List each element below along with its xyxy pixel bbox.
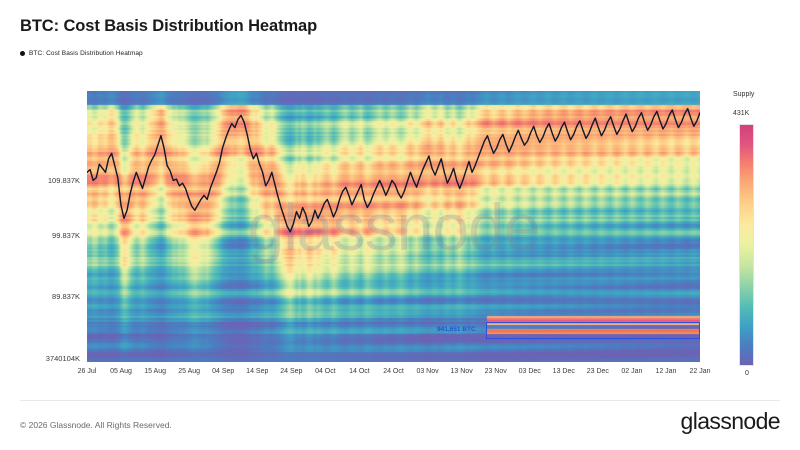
y-axis-tick: 99.837K [4, 231, 80, 240]
legend-label: BTC: Cost Basis Distribution Heatmap [29, 50, 143, 57]
cost-basis-cluster-label: 941,651 BTC [437, 326, 476, 333]
brand-wordmark: glassnode [681, 408, 780, 435]
copyright-text: © 2026 Glassnode. All Rights Reserved. [20, 420, 172, 430]
footer-divider [20, 400, 780, 401]
heatmap-plot-area[interactable]: glassnode [87, 91, 700, 362]
chart-legend: BTC: Cost Basis Distribution Heatmap [20, 50, 143, 57]
price-line-overlay [87, 91, 700, 362]
legend-marker-icon [20, 51, 25, 56]
x-axis-tick: 22 Jan [677, 368, 723, 375]
colorbar-title: Supply [733, 91, 754, 98]
page-title: BTC: Cost Basis Distribution Heatmap [20, 17, 317, 36]
y-axis-tick: 3740104K [4, 354, 80, 363]
colorbar-gradient [739, 124, 754, 366]
colorbar-min-label: 0 [745, 370, 749, 377]
y-axis-tick: 109.837K [4, 176, 80, 185]
y-axis-tick: 89.837K [4, 292, 80, 301]
colorbar-max-label: 431K [733, 110, 749, 117]
